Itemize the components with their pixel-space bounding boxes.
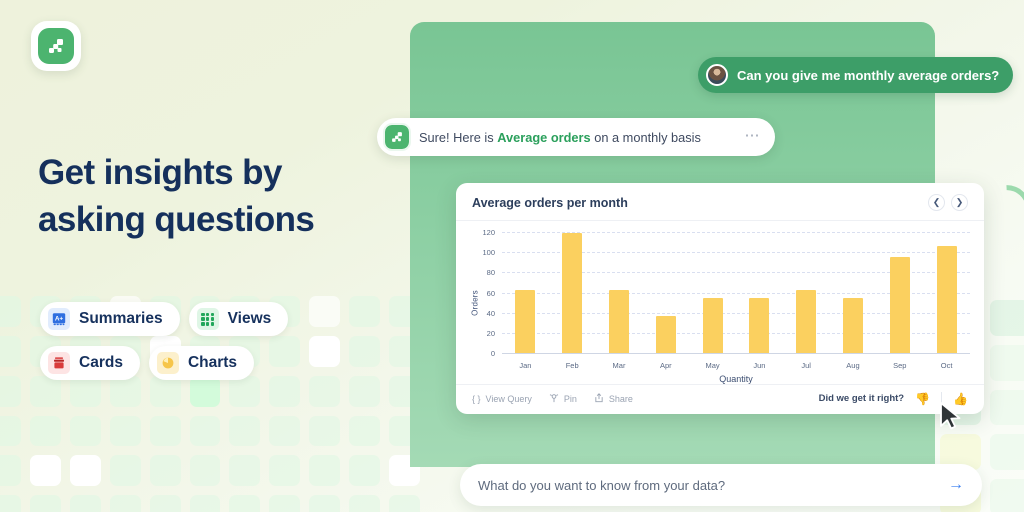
bar[interactable] — [937, 246, 957, 354]
pin-label: Pin — [564, 394, 577, 404]
y-axis-label: Orders — [470, 290, 479, 316]
x-axis-tick: Jun — [738, 361, 780, 370]
x-axis-tick: Jan — [504, 361, 546, 370]
x-axis-label: Quantity — [502, 374, 970, 384]
grid-icon — [197, 308, 219, 330]
bot-logo-icon — [385, 125, 409, 149]
user-message-text: Can you give me monthly average orders? — [737, 68, 999, 83]
ellipsis-icon[interactable]: ⋯ — [745, 128, 762, 147]
x-axis-tick: Aug — [832, 361, 874, 370]
pill-cards[interactable]: Cards — [40, 346, 140, 380]
view-query-label: View Query — [486, 394, 532, 404]
chart-feedback: Did we get it right? 👎 👍 — [819, 392, 968, 405]
bar-column[interactable] — [785, 233, 827, 354]
thumbs-down-icon[interactable]: 👎 — [915, 393, 930, 405]
chart-title: Average orders per month — [472, 196, 628, 210]
cards-icon — [48, 352, 70, 374]
bar[interactable] — [890, 257, 910, 354]
pill-label: Cards — [79, 355, 123, 371]
feedback-prompt: Did we get it right? — [819, 393, 905, 404]
pill-charts[interactable]: Charts — [149, 346, 254, 380]
bar-column[interactable] — [645, 233, 687, 354]
page-title: Get insights by asking questions — [38, 150, 388, 244]
chart-nav-buttons: ❮ ❯ — [928, 194, 968, 211]
bar-column[interactable] — [504, 233, 546, 354]
bar-column[interactable] — [832, 233, 874, 354]
y-axis-tick: 20 — [487, 329, 495, 338]
chart-card-header: Average orders per month ❮ ❯ — [456, 183, 984, 221]
a-plus-icon: A+ — [48, 308, 70, 330]
divider — [941, 392, 942, 405]
bar[interactable] — [609, 290, 629, 354]
y-axis-tick: 0 — [491, 349, 495, 358]
x-axis-tick: Apr — [645, 361, 687, 370]
bar-column[interactable] — [879, 233, 921, 354]
assistant-message-suffix: on a monthly basis — [591, 130, 701, 145]
x-axis-tick: Sep — [879, 361, 921, 370]
pill-label: Summaries — [79, 311, 163, 327]
bar-column[interactable] — [738, 233, 780, 354]
pill-row-2: Cards Charts — [40, 346, 380, 380]
assistant-message-text: Sure! Here is Average orders on a monthl… — [419, 130, 735, 145]
headline-line-2: asking questions — [38, 197, 388, 244]
chevron-left-icon[interactable]: ❮ — [928, 194, 945, 211]
chart-card: Average orders per month ❮ ❯ Orders 1201… — [456, 183, 984, 414]
pill-label: Charts — [188, 355, 237, 371]
x-axis-tick: Oct — [926, 361, 968, 370]
bar[interactable] — [796, 290, 816, 354]
chat-message-assistant: Sure! Here is Average orders on a monthl… — [377, 118, 775, 156]
bar[interactable] — [703, 298, 723, 354]
chat-message-user: Can you give me monthly average orders? — [698, 57, 1013, 93]
nodes-network-icon — [38, 28, 74, 64]
bar[interactable] — [843, 298, 863, 354]
assistant-message-highlight: Average orders — [497, 130, 590, 145]
headline-line-1: Get insights by — [38, 150, 388, 197]
bar[interactable] — [515, 290, 535, 354]
thumbs-up-icon[interactable]: 👍 — [953, 393, 968, 405]
bar[interactable] — [749, 298, 769, 354]
chart-card-footer: { } View Query Pin — [456, 384, 984, 414]
pin-button[interactable]: Pin — [549, 393, 577, 405]
pill-row-1: A+ Summaries Views — [40, 302, 380, 336]
share-icon — [594, 393, 604, 405]
svg-text:A+: A+ — [55, 316, 64, 323]
bar-column[interactable] — [926, 233, 968, 354]
pie-chart-icon — [157, 352, 179, 374]
chart-actions: { } View Query Pin — [472, 393, 633, 405]
x-axis-tick-labels: JanFebMarAprMayJunJulAugSepOct — [502, 361, 970, 370]
share-button[interactable]: Share — [594, 393, 633, 405]
x-axis-tick: Jul — [785, 361, 827, 370]
x-axis-tick: May — [692, 361, 734, 370]
bar[interactable] — [656, 316, 676, 354]
assistant-message-prefix: Sure! Here is — [419, 130, 497, 145]
y-axis-tick: 100 — [482, 248, 495, 257]
feature-pill-group: A+ Summaries Views — [40, 302, 380, 390]
user-avatar — [706, 64, 728, 86]
y-axis-tick: 80 — [487, 268, 495, 277]
chevron-right-icon[interactable]: ❯ — [951, 194, 968, 211]
app-logo — [31, 21, 81, 71]
bar-column[interactable] — [551, 233, 593, 354]
bar-column[interactable] — [692, 233, 734, 354]
bar-column[interactable] — [598, 233, 640, 354]
promo-canvas: Get insights by asking questions A+ Summ… — [0, 0, 1024, 512]
view-query-button[interactable]: { } View Query — [472, 394, 532, 404]
x-axis-tick: Feb — [551, 361, 593, 370]
query-input-bar[interactable]: What do you want to know from your data?… — [460, 464, 982, 506]
y-axis-tick: 60 — [487, 289, 495, 298]
chart-grid: 120100806040200 — [502, 233, 970, 354]
pin-icon — [549, 393, 559, 405]
decorative-arc-small — [978, 176, 1024, 238]
pill-summaries[interactable]: A+ Summaries — [40, 302, 180, 336]
search-input[interactable]: What do you want to know from your data? — [478, 478, 948, 493]
x-axis-tick: Mar — [598, 361, 640, 370]
x-axis-line — [502, 353, 970, 354]
y-axis-tick: 120 — [482, 228, 495, 237]
arrow-right-icon[interactable]: → — [948, 477, 964, 493]
bar[interactable] — [562, 233, 582, 354]
braces-icon: { } — [472, 394, 481, 404]
pill-views[interactable]: Views — [189, 302, 289, 336]
y-axis-tick: 40 — [487, 309, 495, 318]
bar-series — [502, 233, 970, 354]
share-label: Share — [609, 394, 633, 404]
pill-label: Views — [228, 311, 272, 327]
chart-plot-area: Orders 120100806040200 JanFebMarAprMayJu… — [456, 221, 984, 384]
